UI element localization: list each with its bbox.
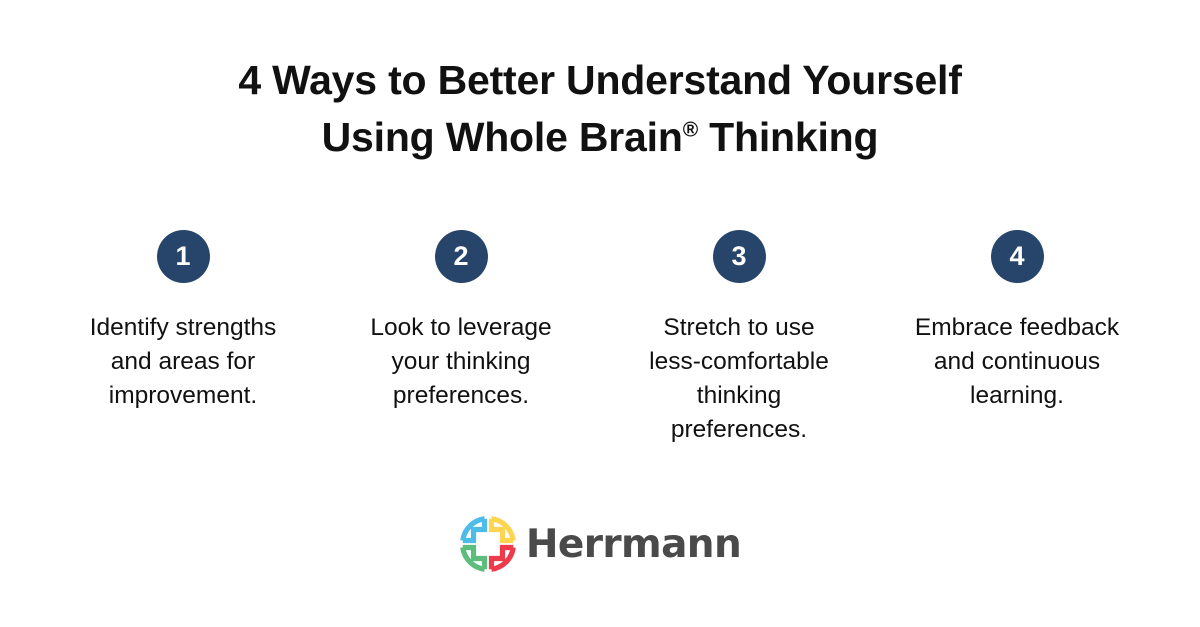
step-column-2: 2 Look to leverage your thinking prefere… (322, 230, 600, 413)
slide-canvas: 4 Ways to Better Understand Yourself Usi… (0, 0, 1200, 627)
step-number-badge-4: 4 (991, 230, 1044, 283)
step-text-1: Identify strengths and areas for improve… (90, 311, 277, 413)
steps-row: 1 Identify strengths and areas for impro… (0, 230, 1200, 447)
page-title: 4 Ways to Better Understand Yourself Usi… (0, 52, 1200, 166)
title-line-2-text: Using Whole Brain (322, 114, 683, 160)
registered-trademark-symbol: ® (683, 118, 698, 141)
step-text-2: Look to leverage your thinking preferenc… (370, 311, 551, 413)
step-number-badge-2: 2 (435, 230, 488, 283)
step-column-1: 1 Identify strengths and areas for impro… (44, 230, 322, 413)
title-line-2-suffix: Thinking (698, 114, 878, 160)
herrmann-quadrant-logo-icon (459, 515, 517, 573)
step-text-3: Stretch to use less-comfortable thinking… (649, 311, 829, 447)
step-column-3: 3 Stretch to use less-comfortable thinki… (600, 230, 878, 447)
brand-wordmark: Herrmann (526, 525, 741, 564)
step-column-4: 4 Embrace feedback and continuous learni… (878, 230, 1156, 413)
title-line-1: 4 Ways to Better Understand Yourself (0, 52, 1200, 109)
title-line-2: Using Whole Brain® Thinking (0, 109, 1200, 166)
brand-logo: Herrmann (0, 515, 1200, 573)
step-number-badge-1: 1 (157, 230, 210, 283)
step-text-4: Embrace feedback and continuous learning… (915, 311, 1119, 413)
step-number-badge-3: 3 (713, 230, 766, 283)
